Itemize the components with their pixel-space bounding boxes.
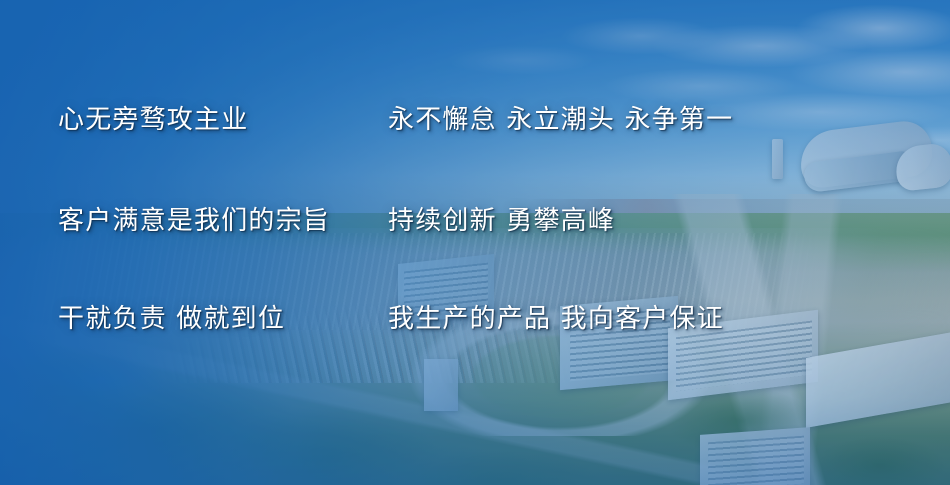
slogan-row2-left: 客户满意是我们的宗旨 [58, 208, 330, 234]
slogan-row1-left: 心无旁骛攻主业 [58, 107, 248, 133]
slogan-row1-right: 永不懈怠 永立潮头 永争第一 [388, 107, 733, 133]
slogan-row2-right: 持续创新 勇攀高峰 [388, 208, 615, 234]
slogan-row3-right: 我生产的产品 我向客户保证 [388, 306, 724, 332]
slogan-banner: 心无旁骛攻主业 永不懈怠 永立潮头 永争第一 客户满意是我们的宗旨 持续创新 勇… [0, 0, 950, 485]
slogan-text-group: 心无旁骛攻主业 永不懈怠 永立潮头 永争第一 客户满意是我们的宗旨 持续创新 勇… [0, 0, 950, 485]
slogan-row3-left: 干就负责 做就到位 [58, 306, 285, 332]
